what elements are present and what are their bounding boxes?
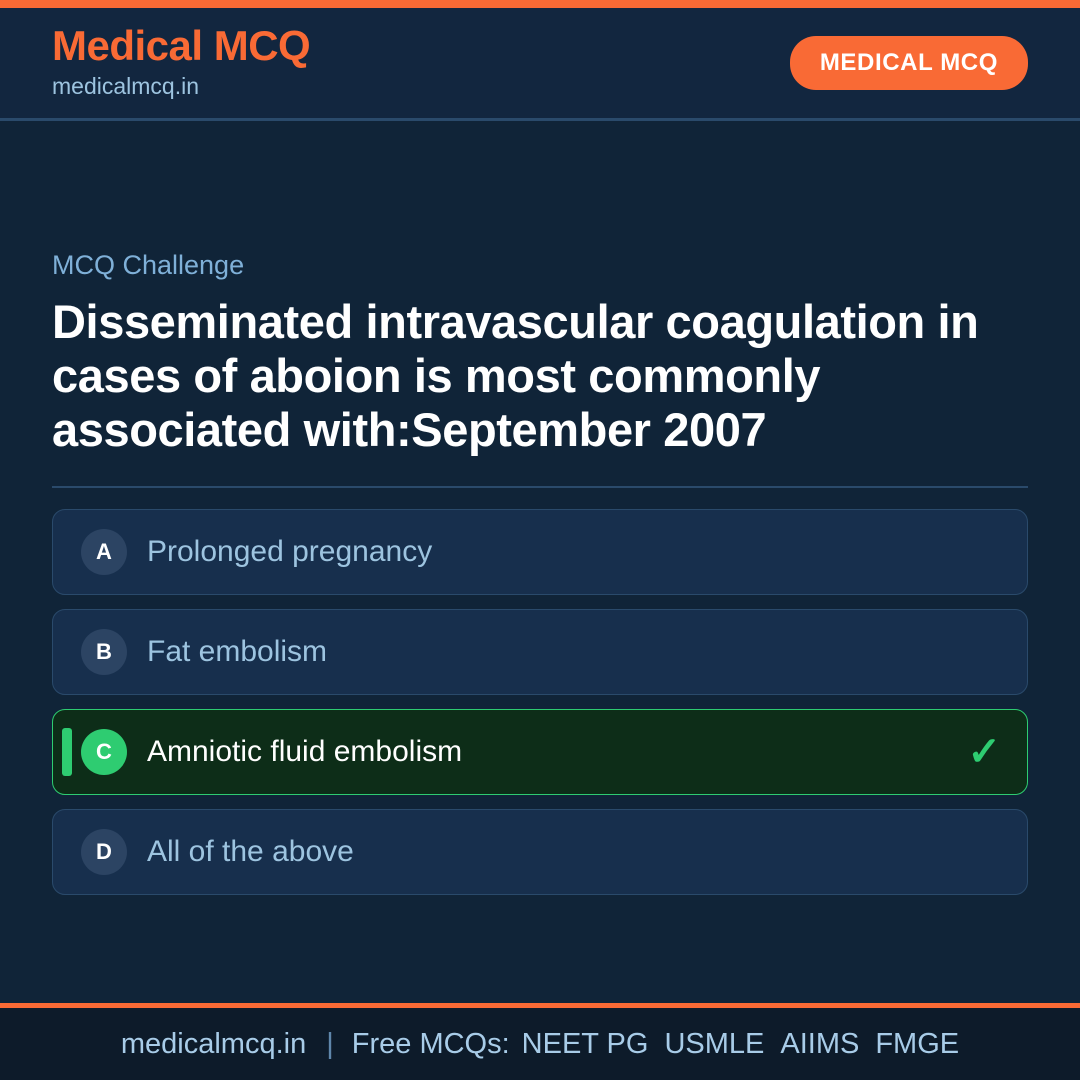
check-icon: ✓: [967, 732, 1001, 772]
brand-title: Medical MCQ: [52, 24, 310, 68]
footer-content: medicalmcq.in | Free MCQs: NEET PG USMLE…: [121, 1028, 959, 1061]
brand-block: Medical MCQ medicalmcq.in: [52, 24, 310, 101]
option-a[interactable]: A Prolonged pregnancy: [52, 509, 1028, 595]
brand-subtitle: medicalmcq.in: [52, 71, 310, 102]
question-text: Disseminated intravascular coagulation i…: [52, 295, 1028, 456]
option-b[interactable]: B Fat embolism: [52, 609, 1028, 695]
option-label: All of the above: [147, 833, 1001, 871]
header-badge[interactable]: MEDICAL MCQ: [790, 36, 1028, 90]
question-divider: [52, 486, 1028, 488]
option-letter-badge: A: [81, 529, 127, 575]
option-d[interactable]: D All of the above: [52, 809, 1028, 895]
footer-exam-fmge[interactable]: FMGE: [875, 1028, 959, 1061]
footer-site-link[interactable]: medicalmcq.in: [121, 1028, 306, 1061]
footer-exam-usmle[interactable]: USMLE: [664, 1028, 764, 1061]
options-list: A Prolonged pregnancy B Fat embolism C A…: [52, 509, 1028, 895]
option-letter-badge: C: [81, 729, 127, 775]
option-label: Amniotic fluid embolism: [147, 733, 967, 771]
option-letter-badge: D: [81, 829, 127, 875]
correct-accent-bar: [62, 728, 72, 776]
option-c[interactable]: C Amniotic fluid embolism ✓: [52, 709, 1028, 795]
option-letter-badge: B: [81, 629, 127, 675]
option-label: Prolonged pregnancy: [147, 533, 1001, 571]
option-label: Fat embolism: [147, 633, 1001, 671]
header-bar: Medical MCQ medicalmcq.in MEDICAL MCQ: [0, 8, 1080, 121]
footer-bar: medicalmcq.in | Free MCQs: NEET PG USMLE…: [0, 1008, 1080, 1080]
footer-exam-neet-pg[interactable]: NEET PG: [522, 1028, 649, 1061]
mcq-card: Medical MCQ medicalmcq.in MEDICAL MCQ MC…: [0, 0, 1080, 1080]
footer-exam-aiims[interactable]: AIIMS: [780, 1028, 859, 1061]
main-content: MCQ Challenge Disseminated intravascular…: [0, 121, 1080, 1003]
footer-separator: |: [326, 1028, 334, 1061]
footer-label: Free MCQs:: [352, 1028, 510, 1061]
eyebrow-label: MCQ Challenge: [52, 249, 1028, 281]
top-accent-rule: [0, 0, 1080, 8]
